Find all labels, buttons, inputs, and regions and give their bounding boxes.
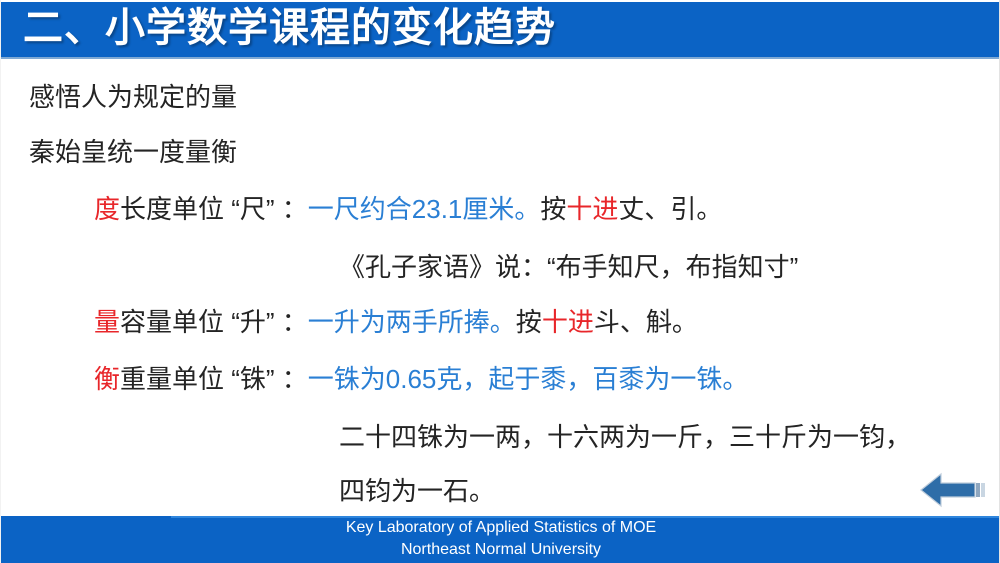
body-line-8: 四钧为一石。 <box>339 474 495 508</box>
body-line-7-text: 二十四铢为一两，十六两为一斤，三十斤为一钧， <box>339 422 911 452</box>
left-arrow-icon[interactable] <box>919 470 989 510</box>
body-line-5-red-2: 十进 <box>542 307 594 337</box>
footer-line-2: Northeast Normal University <box>1 539 1000 561</box>
body-line-5: 量容量单位 “升” ：一升为两手所捧。按十进斗、斛。 <box>94 305 698 339</box>
body-line-1: 感悟人为规定的量 <box>29 80 237 114</box>
page-title: 二、小学数学课程的变化趋势 <box>23 3 556 55</box>
unit-label-weight: 衡 <box>94 364 120 394</box>
body-line-6-blue: 一铢为0.65克，起于黍，百黍为一铢。 <box>308 364 749 394</box>
unit-label-length: 度 <box>94 194 120 224</box>
body-line-3-black-2: 按 <box>540 194 566 224</box>
unit-label-volume: 量 <box>94 307 120 337</box>
body-line-1-text: 感悟人为规定的量 <box>29 82 237 112</box>
body-line-2: 秦始皇统一度量衡 <box>29 135 237 169</box>
body-line-7: 二十四铢为一两，十六两为一斤，三十斤为一钧， <box>339 420 911 454</box>
body-line-2-text: 秦始皇统一度量衡 <box>29 137 237 167</box>
slide: 二、小学数学课程的变化趋势 感悟人为规定的量 秦始皇统一度量衡 度长度单位 “尺… <box>0 0 1000 563</box>
body-line-5-blue: 一升为两手所捧。 <box>308 307 516 337</box>
body-line-6-black-1: 重量单位 “铢” ： <box>120 364 308 394</box>
body-line-5-black-1: 容量单位 “升” ： <box>120 307 308 337</box>
body-line-5-black-2: 按 <box>516 307 542 337</box>
body-line-3-red-2: 十进 <box>566 194 618 224</box>
body-line-3-black-1: 长度单位 “尺” ： <box>120 194 308 224</box>
body-line-3: 度长度单位 “尺” ：一尺约合23.1厘米。按十进丈、引。 <box>94 192 722 226</box>
body-line-4: 《孔子家语》说：“布手知尺，布指知寸” <box>339 250 798 284</box>
body-line-5-black-3: 斗、斛。 <box>594 307 698 337</box>
slide-body: 感悟人为规定的量 秦始皇统一度量衡 度长度单位 “尺” ：一尺约合23.1厘米。… <box>1 62 1000 512</box>
body-line-4-text: 《孔子家语》说：“布手知尺，布指知寸” <box>339 252 798 282</box>
body-line-3-black-3: 丈、引。 <box>618 194 722 224</box>
body-line-8-text: 四钧为一石。 <box>339 476 495 506</box>
body-line-3-blue: 一尺约合23.1厘米。 <box>308 194 541 224</box>
body-line-6: 衡重量单位 “铢” ：一铢为0.65克，起于黍，百黍为一铢。 <box>94 362 748 396</box>
footer-line-1: Key Laboratory of Applied Statistics of … <box>1 517 1000 539</box>
footer-text: Key Laboratory of Applied Statistics of … <box>1 517 1000 561</box>
title-banner-underline <box>1 57 1000 59</box>
